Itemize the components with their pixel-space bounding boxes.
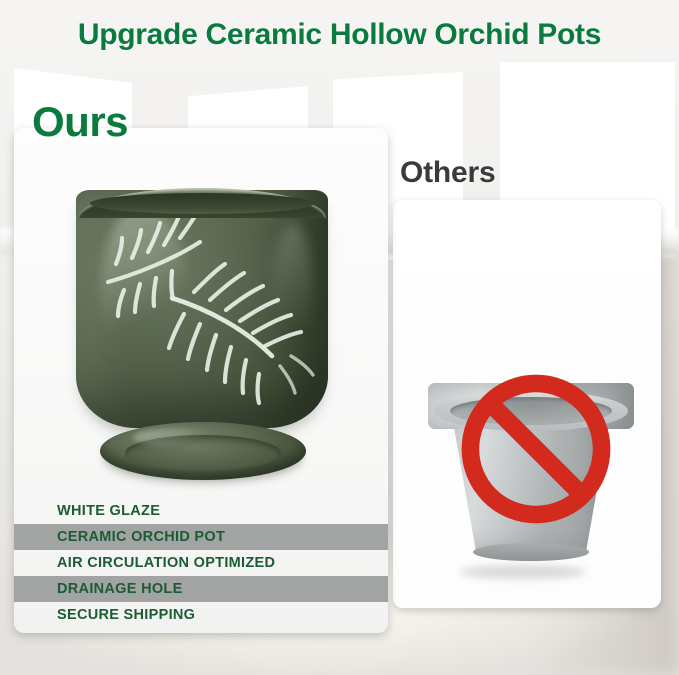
pot-body [76, 190, 328, 428]
feature-row: WHITE GLAZE [14, 498, 388, 524]
green-ceramic-saucer-icon [100, 422, 306, 480]
ours-product-image [14, 150, 388, 510]
red-no-symbol-icon [456, 369, 616, 529]
fern-cutout-pattern-icon [76, 190, 328, 428]
feature-label: CERAMIC ORCHID POT [14, 529, 225, 545]
feature-label: WHITE GLAZE [14, 503, 160, 519]
feature-list: WHITE GLAZE CERAMIC ORCHID POT AIR CIRCU… [14, 498, 388, 628]
feature-label: SECURE SHIPPING [14, 607, 195, 623]
green-ceramic-fern-pot-icon [76, 190, 328, 428]
feature-label: AIR CIRCULATION OPTIMIZED [14, 555, 275, 571]
ours-heading: Ours [32, 98, 128, 146]
others-product-image [420, 355, 642, 575]
gray-pot-base [473, 543, 589, 561]
feature-row: DRAINAGE HOLE [14, 576, 388, 602]
pot-inner-opening [90, 193, 314, 214]
page-title: Upgrade Ceramic Hollow Orchid Pots [0, 18, 679, 52]
feature-row: SECURE SHIPPING [14, 602, 388, 628]
feature-row: AIR CIRCULATION OPTIMIZED [14, 550, 388, 576]
gray-pot-shadow [460, 565, 586, 579]
others-heading: Others [400, 156, 496, 190]
feature-label: DRAINAGE HOLE [14, 581, 183, 597]
feature-row: CERAMIC ORCHID POT [14, 524, 388, 550]
